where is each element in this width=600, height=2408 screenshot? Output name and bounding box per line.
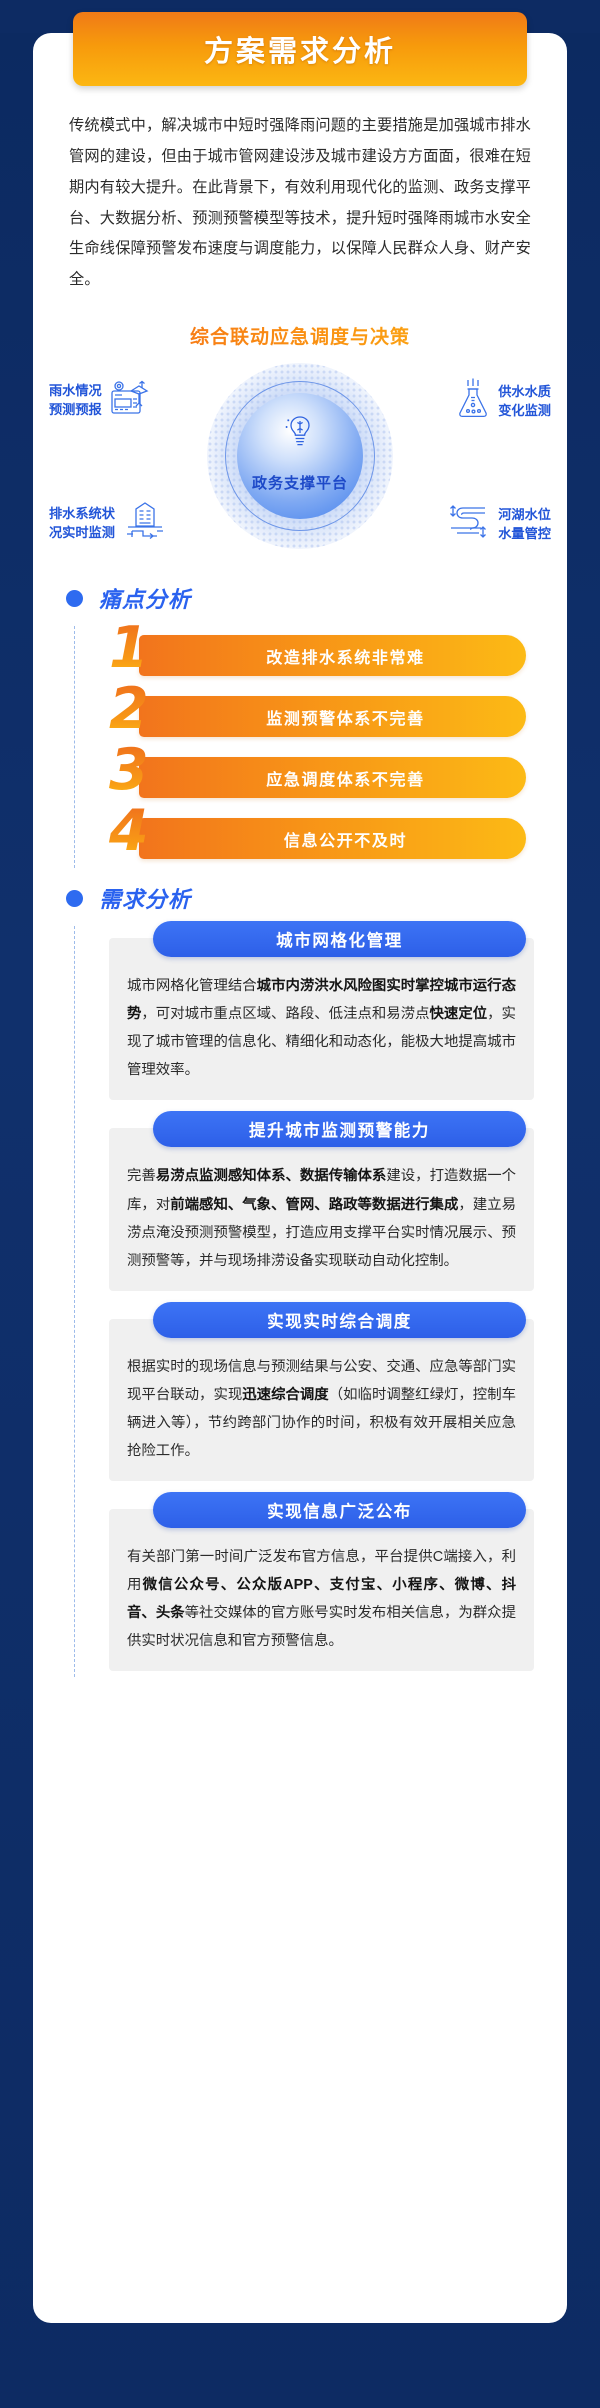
page-header-ribbon: 方案需求分析 bbox=[73, 12, 527, 86]
pain-point-number: 1 bbox=[109, 620, 149, 677]
requirement-card-body: 完善易涝点监测感知体系、数据传输体系建设，打造数据一个库，对前端感知、气象、管网… bbox=[127, 1162, 516, 1274]
blue-dot-icon bbox=[66, 890, 83, 907]
requirement-card-badge: 提升城市监测预警能力 bbox=[153, 1111, 526, 1147]
main-panel: 方案需求分析 传统模式中，解决城市中短时强降雨问题的主要措施是加强城市排水管网的… bbox=[33, 33, 567, 2323]
pain-point-item[interactable]: 改造排水系统非常难 1 bbox=[109, 632, 534, 679]
pain-point-number: 4 bbox=[109, 803, 149, 860]
diagram-node-water-quality: 供水水质变化监测 bbox=[455, 377, 551, 426]
requirement-card-body: 城市网格化管理结合城市内涝洪水风险图实时掌控城市运行态势，可对城市重点区域、路段… bbox=[127, 972, 516, 1084]
requirement-section: 需求分析 城市网格化管理 城市网格化管理结合城市内涝洪水风险图实时掌控城市运行态… bbox=[33, 880, 567, 1671]
pain-point-section: 痛点分析 改造排水系统非常难 1 监测预警体系不完善 2 应急调度体系不完善 3 bbox=[33, 580, 567, 862]
requirement-section-header: 需求分析 bbox=[33, 880, 567, 916]
requirement-dashed-rail bbox=[74, 926, 75, 1677]
pain-dashed-rail bbox=[74, 626, 75, 868]
pain-section-header: 痛点分析 bbox=[33, 580, 567, 616]
pain-point-item[interactable]: 监测预警体系不完善 2 bbox=[109, 693, 534, 740]
pain-point-label: 监测预警体系不完善 bbox=[240, 705, 424, 729]
water-quality-flask-icon bbox=[455, 377, 491, 426]
diagram-node-rain-forecast: 雨水情况预测预报 bbox=[49, 377, 153, 424]
requirement-card-title: 实现信息广泛公布 bbox=[267, 1498, 412, 1522]
diagram-node-label: 雨水情况预测预报 bbox=[49, 382, 102, 419]
requirement-section-title: 需求分析 bbox=[99, 882, 191, 914]
requirement-card-title: 实现实时综合调度 bbox=[267, 1308, 412, 1332]
requirement-card[interactable]: 实现信息广泛公布 有关部门第一时间广泛发布官方信息，平台提供C端接入，利用微信公… bbox=[109, 1509, 534, 1671]
rain-forecast-icon bbox=[109, 377, 153, 424]
diagram-node-drainage: 排水系统状况实时监测 bbox=[49, 500, 168, 547]
requirement-card-badge: 实现信息广泛公布 bbox=[153, 1492, 526, 1528]
requirement-card-list: 城市网格化管理 城市网格化管理结合城市内涝洪水风险图实时掌控城市运行态势，可对城… bbox=[33, 916, 567, 1671]
diagram-node-label: 排水系统状况实时监测 bbox=[49, 505, 115, 542]
pain-point-item[interactable]: 信息公开不及时 4 bbox=[109, 815, 534, 862]
brain-bulb-icon bbox=[283, 413, 317, 458]
requirement-card[interactable]: 实现实时综合调度 根据实时的现场信息与预测结果与公安、交通、应急等部门实现平台联… bbox=[109, 1319, 534, 1481]
diagram-stage: 政务支撑平台 雨水情况预测预报 bbox=[33, 355, 567, 555]
pain-point-bar: 应急调度体系不完善 bbox=[139, 757, 526, 798]
pain-point-number: 2 bbox=[109, 681, 149, 738]
platform-core-circle: 政务支撑平台 bbox=[237, 393, 363, 519]
requirement-card-badge: 实现实时综合调度 bbox=[153, 1302, 526, 1338]
diagram-title: 综合联动应急调度与决策 bbox=[33, 322, 567, 349]
pain-point-number: 3 bbox=[109, 742, 149, 799]
pain-section-title: 痛点分析 bbox=[99, 582, 191, 614]
requirement-card-title: 提升城市监测预警能力 bbox=[249, 1117, 430, 1141]
requirement-card[interactable]: 提升城市监测预警能力 完善易涝点监测感知体系、数据传输体系建设，打造数据一个库，… bbox=[109, 1128, 534, 1290]
pain-point-label: 应急调度体系不完善 bbox=[240, 766, 424, 790]
pain-point-label: 信息公开不及时 bbox=[258, 827, 407, 851]
platform-core-label: 政务支撑平台 bbox=[252, 472, 348, 493]
linkage-diagram: 综合联动应急调度与决策 政务支撑平台 雨水情况预测预报 bbox=[33, 322, 567, 562]
requirement-card[interactable]: 城市网格化管理 城市网格化管理结合城市内涝洪水风险图实时掌控城市运行态势，可对城… bbox=[109, 938, 534, 1100]
pain-point-bar: 改造排水系统非常难 bbox=[139, 635, 526, 676]
diagram-node-label: 河湖水位水量管控 bbox=[498, 506, 551, 543]
pain-point-item[interactable]: 应急调度体系不完善 3 bbox=[109, 754, 534, 801]
requirement-card-title: 城市网格化管理 bbox=[276, 927, 403, 951]
pain-point-label: 改造排水系统非常难 bbox=[240, 644, 424, 668]
river-lake-level-icon bbox=[445, 502, 491, 547]
blue-dot-icon bbox=[66, 590, 83, 607]
requirement-card-body: 有关部门第一时间广泛发布官方信息，平台提供C端接入，利用微信公众号、公众版APP… bbox=[127, 1543, 516, 1655]
requirement-card-badge: 城市网格化管理 bbox=[153, 921, 526, 957]
requirement-card-body: 根据实时的现场信息与预测结果与公安、交通、应急等部门实现平台联动，实现迅速综合调… bbox=[127, 1353, 516, 1465]
pain-point-bar: 监测预警体系不完善 bbox=[139, 696, 526, 737]
drainage-building-icon bbox=[122, 500, 168, 547]
pain-point-bar: 信息公开不及时 bbox=[139, 818, 526, 859]
diagram-node-label: 供水水质变化监测 bbox=[498, 383, 551, 420]
pain-point-list: 改造排水系统非常难 1 监测预警体系不完善 2 应急调度体系不完善 3 信息公开… bbox=[33, 616, 567, 862]
page-title: 方案需求分析 bbox=[204, 28, 396, 70]
diagram-node-river-level: 河湖水位水量管控 bbox=[445, 502, 551, 547]
